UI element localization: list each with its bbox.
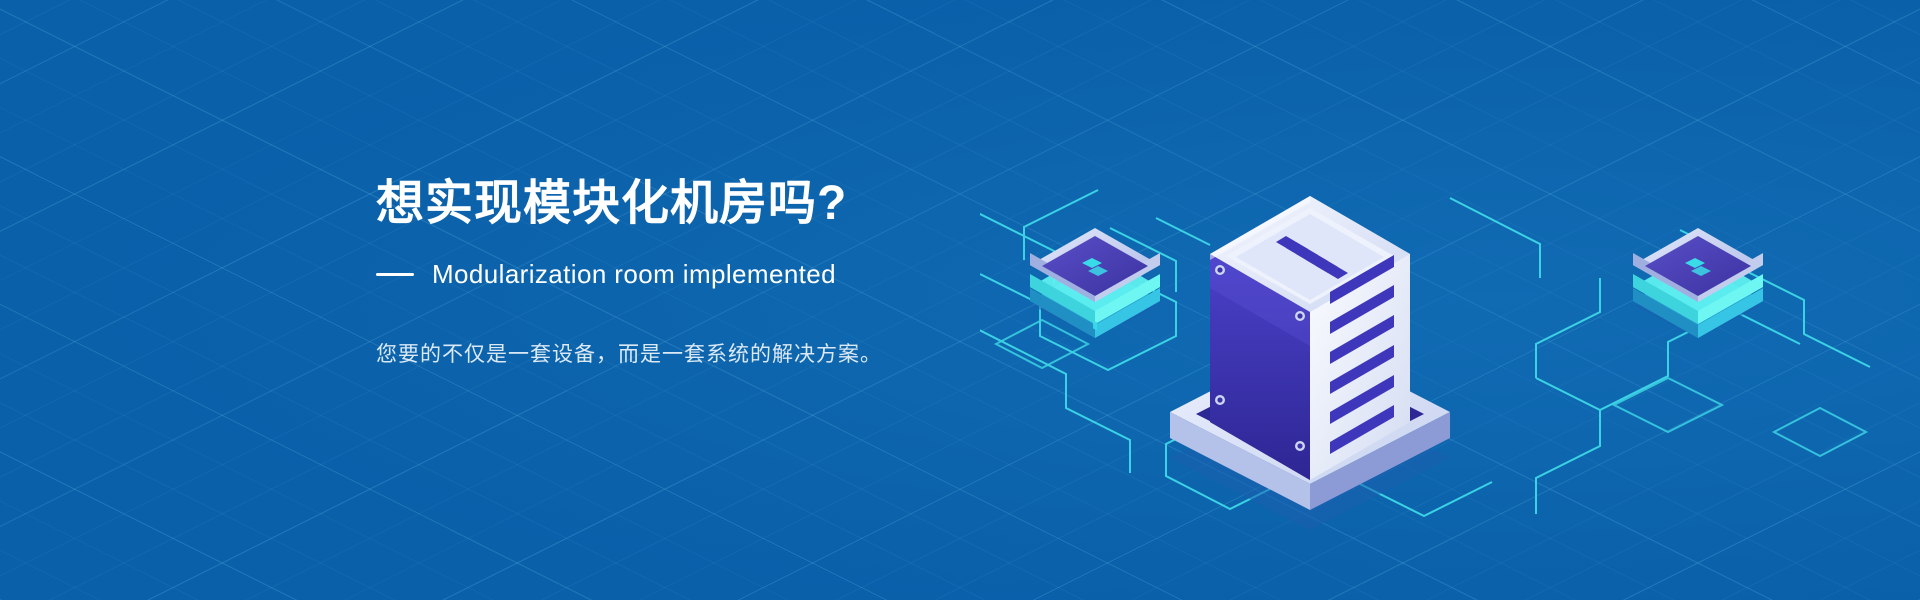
banner-copy: 想实现模块化机房吗? Modularization room implement… [376,176,1096,392]
dash-accent-icon [376,273,414,276]
server-tower [1210,196,1410,480]
hero-banner: 想实现模块化机房吗? Modularization room implement… [0,0,1920,600]
banner-subtitle: Modularization room implemented [432,259,836,290]
chip-right [1633,228,1763,338]
page-title: 想实现模块化机房吗? [376,176,1096,233]
illustration-isometric-server [980,78,1880,548]
subtitle-row: Modularization room implemented [376,259,1096,290]
banner-description: 您要的不仅是一套设备，而是一套系统的解决方案。 [376,338,1096,372]
